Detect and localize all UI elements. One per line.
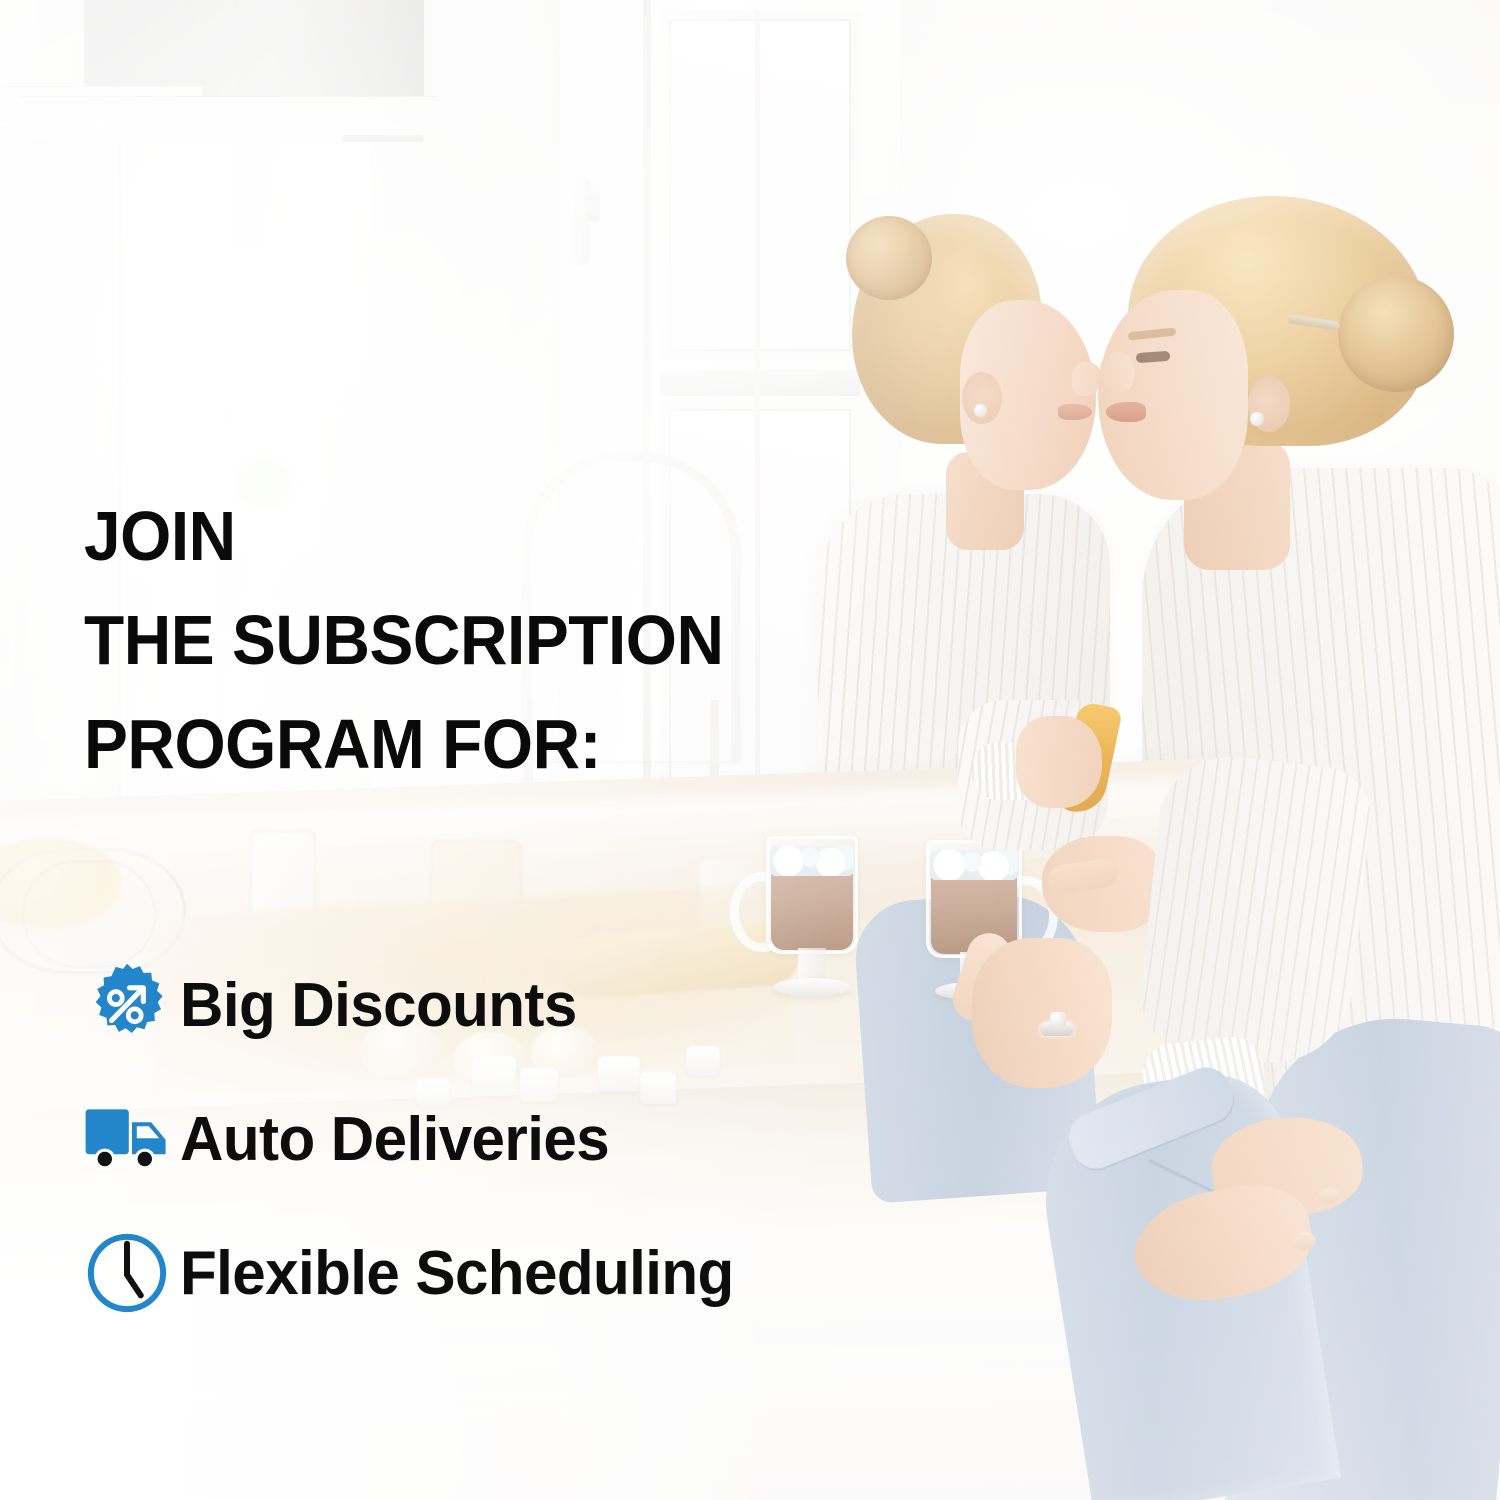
- feature-label: Big Discounts: [180, 970, 577, 1041]
- headline-line-3: PROGRAM FOR:: [84, 692, 724, 796]
- feature-label: Flexible Scheduling: [180, 1238, 734, 1309]
- delivery-truck-icon: [84, 1104, 180, 1174]
- discount-badge-icon: [84, 962, 180, 1048]
- promo-banner: JOIN THE SUBSCRIPTION PROGRAM FOR: Big D…: [0, 0, 1500, 1500]
- feature-item-deliveries: Auto Deliveries: [84, 1072, 984, 1206]
- headline-line-2: THE SUBSCRIPTION: [84, 588, 724, 692]
- feature-label: Auto Deliveries: [180, 1104, 609, 1175]
- feature-item-scheduling: Flexible Scheduling: [84, 1206, 984, 1340]
- headline: JOIN THE SUBSCRIPTION PROGRAM FOR:: [84, 484, 724, 796]
- feature-item-discounts: Big Discounts: [84, 938, 984, 1072]
- clock-icon: [84, 1230, 180, 1316]
- headline-line-1: JOIN: [84, 484, 724, 588]
- feature-list: Big Discounts Auto Deliveries: [84, 938, 984, 1340]
